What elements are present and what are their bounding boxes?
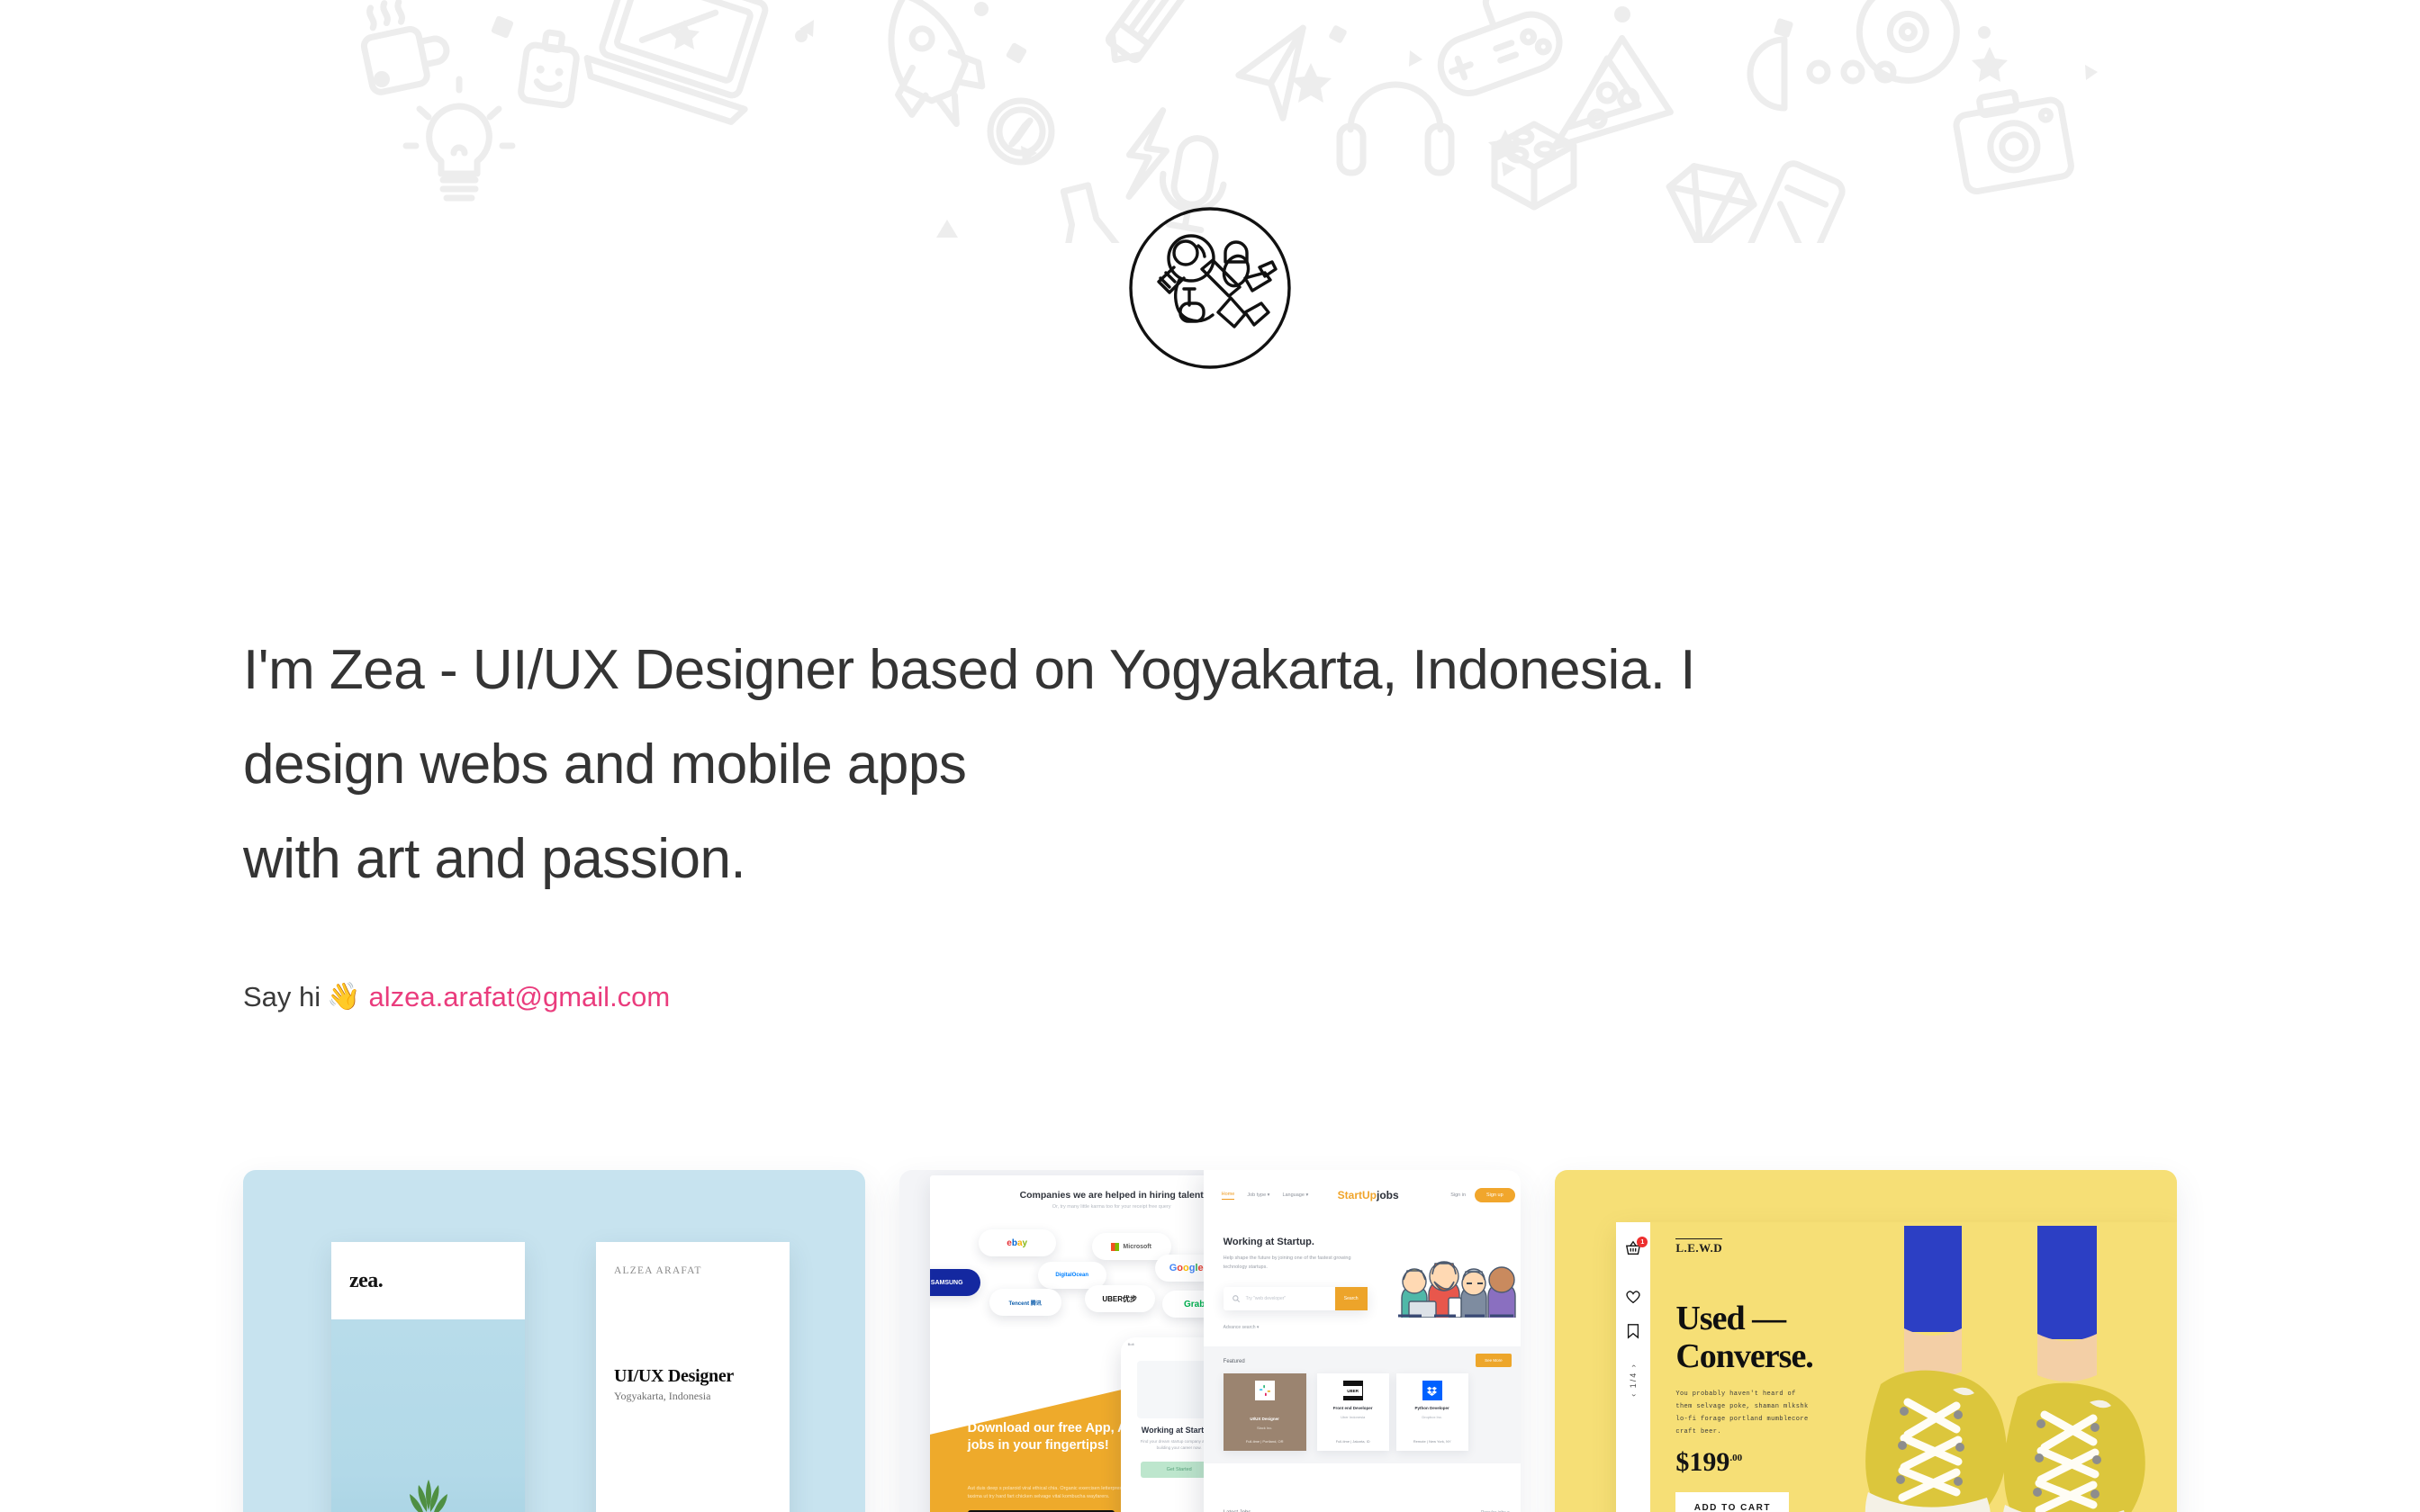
- uber-icon: UBER: [1343, 1381, 1363, 1400]
- zea-logo-text: zea.: [349, 1269, 383, 1293]
- job-card[interactable]: Python Developer Dropbox Inc. Remote | N…: [1396, 1373, 1468, 1451]
- business-card-front: zea.: [331, 1242, 525, 1512]
- compass-icon: [990, 101, 1052, 162]
- phone-carrier: Bolt: [1128, 1342, 1134, 1348]
- product-description: You probably haven't heard of them selva…: [1675, 1388, 1809, 1438]
- headline-line-2: design webs and mobile apps: [243, 717, 2134, 812]
- chevron-down-icon: ▾: [1268, 1192, 1270, 1198]
- team-illustration: [1395, 1240, 1519, 1318]
- signin-link[interactable]: Sign in: [1450, 1192, 1466, 1198]
- job-company: Uber Indonesia: [1317, 1415, 1389, 1419]
- cd-disc-icon: [1849, 0, 1967, 91]
- product-title-line2: Converse.: [1675, 1337, 1812, 1375]
- nav-link-jobtype[interactable]: Job type ▾: [1247, 1192, 1269, 1198]
- carousel-pagination[interactable]: ‹ 1/4 ›: [1629, 1363, 1638, 1397]
- company-logo-samsung: SAMSUNG: [930, 1269, 980, 1296]
- heart-icon[interactable]: [1625, 1289, 1641, 1309]
- see-more-button[interactable]: See More: [1476, 1354, 1512, 1367]
- company-logo-microsoft: Microsoft: [1092, 1233, 1171, 1260]
- email-link[interactable]: alzea.arafat@gmail.com: [369, 979, 671, 1015]
- business-card-back: ALZEA ARAFAT UI/UX Designer Yogyakarta, …: [596, 1242, 790, 1512]
- headphones-icon: [1340, 85, 1451, 173]
- lewd-side-rail: 1 ‹ 1/4 ›: [1616, 1222, 1650, 1512]
- job-meta: Remote | New York, NY: [1396, 1439, 1468, 1444]
- chevron-down-icon: ▾: [1305, 1192, 1308, 1198]
- gamepad-icon: [1422, 0, 1567, 101]
- contact-prefix: Say hi: [243, 979, 321, 1015]
- smartphone-icon: [1743, 160, 1846, 243]
- slack-icon: [1255, 1381, 1275, 1400]
- astronaut-icon: [1159, 236, 1276, 327]
- waving-hand-icon: 👋: [327, 984, 360, 1011]
- nav-link-home[interactable]: Home: [1222, 1192, 1235, 1200]
- card-person-name: ALZEA ARAFAT: [614, 1265, 702, 1276]
- portfolio-page: I'm Zea - UI/UX Designer based on Yogyak…: [0, 0, 2420, 1512]
- headline-line-3: with art and passion.: [243, 812, 2134, 906]
- square-icon: [491, 15, 1793, 64]
- bookmark-icon[interactable]: [1627, 1323, 1640, 1344]
- search-icon: [1233, 1295, 1240, 1302]
- dropbox-icon: [1422, 1381, 1442, 1400]
- company-logo-ebay: ebay: [979, 1229, 1056, 1256]
- coffee-mug-icon: [357, 0, 453, 94]
- lightbulb-icon: [406, 79, 512, 198]
- headline-line-1: I'm Zea - UI/UX Designer based on Yogyak…: [243, 623, 2134, 717]
- product-title-line1: Used —: [1675, 1300, 1785, 1337]
- job-meta: Full-time | Jakarta, ID: [1317, 1439, 1389, 1444]
- pencil-icon: [1100, 0, 1199, 70]
- job-company: Dropbox Inc.: [1396, 1415, 1468, 1419]
- jobboard-mockup: Home Job type ▾ Language ▾ StartUpjobs S…: [1204, 1170, 1522, 1512]
- card-role: UI/UX Designer: [614, 1366, 734, 1387]
- cart-count-badge: 1: [1637, 1237, 1648, 1247]
- lewd-brand-logo: L.E.W.D: [1675, 1238, 1722, 1255]
- page-title: I'm Zea - UI/UX Designer based on Yogyak…: [243, 623, 2134, 906]
- signup-button[interactable]: Sign up: [1475, 1188, 1515, 1202]
- lego-head-icon: [519, 30, 579, 106]
- company-logo-tencent: Tencent 腾讯: [989, 1289, 1061, 1316]
- price-cents: .00: [1729, 1453, 1742, 1463]
- job-company: Slack Inc.: [1224, 1426, 1306, 1430]
- succulent-plant-icon: [404, 1480, 453, 1512]
- dot-icon: [374, 2, 1991, 87]
- slack-glyph: [1259, 1384, 1271, 1397]
- job-card[interactable]: UI/UX Designer Slack Inc. Full-time | Po…: [1224, 1373, 1306, 1451]
- product-price: $199.00: [1675, 1447, 1742, 1478]
- pacman-icon: [1750, 40, 1784, 108]
- camera-icon: [1952, 84, 2072, 193]
- dot-icon: [1810, 63, 1893, 81]
- search-placeholder: Try "web developer": [1246, 1296, 1287, 1301]
- job-title: Front end Developer: [1317, 1406, 1389, 1410]
- job-title: Python Developer: [1396, 1406, 1468, 1410]
- lewd-shop-mockup: 1 ‹ 1/4 › L.E.W.D: [1616, 1222, 2177, 1512]
- company-logo-uber: UBER优步: [1085, 1285, 1155, 1312]
- jobboard-navbar: Home Job type ▾ Language ▾ StartUpjobs S…: [1222, 1186, 1515, 1204]
- laptop-icon: [582, 0, 778, 124]
- nav-link-language[interactable]: Language ▾: [1282, 1192, 1308, 1198]
- triangle-icon: [799, 20, 2098, 238]
- job-card[interactable]: UBER Front end Developer Uber Indonesia …: [1317, 1373, 1389, 1451]
- shopping-basket-icon[interactable]: 1: [1625, 1240, 1641, 1261]
- logo-ring: [1131, 209, 1289, 367]
- contact-line: Say hi 👋 alzea.arafat@gmail.com: [243, 979, 670, 1015]
- project-card-branding[interactable]: zea. ALZEA ARAFAT: [243, 1170, 865, 1512]
- job-title: UI/UX Designer: [1224, 1417, 1306, 1421]
- jobboard-hero-title: Working at Startup.: [1224, 1237, 1314, 1247]
- astronaut-badge-logo[interactable]: [1124, 202, 1296, 373]
- pizza-slice-icon: [1555, 32, 1678, 158]
- star-icon: [669, 20, 2008, 162]
- job-meta: Full-time | Portland, OR: [1224, 1439, 1306, 1444]
- plant-photo: [331, 1319, 525, 1512]
- lightning-bolt-icon: [1124, 107, 1172, 202]
- card-location: Yogyakarta, Indonesia: [614, 1390, 710, 1403]
- advance-search-toggle[interactable]: Advance search ▾: [1224, 1325, 1260, 1330]
- featured-label: Featured: [1224, 1359, 1245, 1364]
- jobboard-hero-body: Help shape the future by joining one of …: [1224, 1255, 1368, 1272]
- converse-shoes-photo: [1825, 1226, 2177, 1512]
- jobboard-brand: StartUpjobs: [1338, 1189, 1399, 1201]
- project-card-startupjobs[interactable]: Companies we are helped in hiring talent…: [899, 1170, 1522, 1512]
- rocket-icon: [864, 0, 997, 140]
- job-search-box[interactable]: Try "web developer" Search: [1224, 1287, 1368, 1310]
- lego-brick-icon: [1494, 124, 1574, 207]
- project-cards-row: zea. ALZEA ARAFAT: [243, 1170, 2177, 1512]
- add-to-cart-button[interactable]: ADD TO CART: [1675, 1492, 1789, 1512]
- project-card-lewd[interactable]: 1 ‹ 1/4 › L.E.W.D: [1555, 1170, 2177, 1512]
- search-button[interactable]: Search: [1335, 1287, 1368, 1310]
- dropbox-glyph: [1427, 1386, 1437, 1396]
- paper-plane-icon: [1233, 28, 1315, 123]
- diamond-icon: [1658, 162, 1759, 243]
